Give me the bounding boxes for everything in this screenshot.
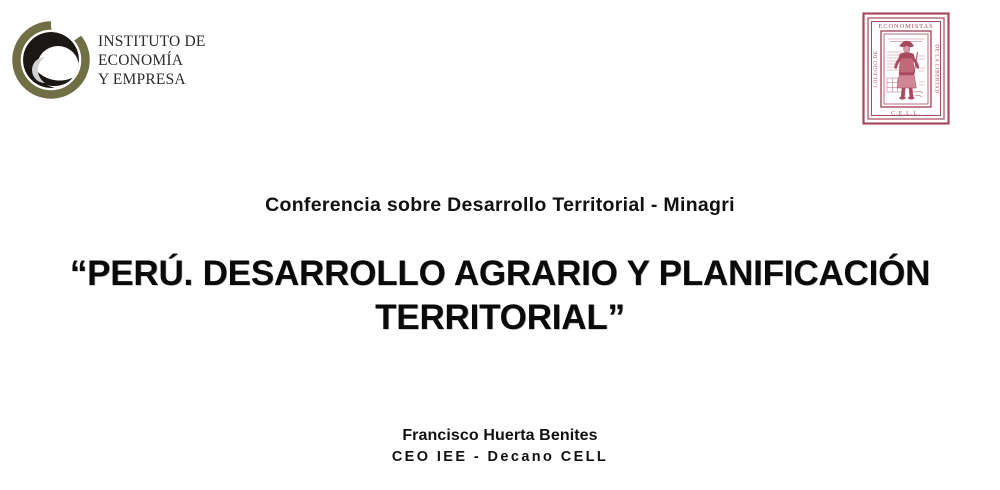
instituto-wordmark: INSTITUTO DE ECONOMÍA Y EMPRESA [98,32,206,89]
speaker-name: Francisco Huerta Benites [0,426,1000,446]
page-title: “PERÚ. DESARROLLO AGRARIO Y PLANIFICACIÓ… [30,252,970,340]
crest-top-text: ECONOMISTAS [879,23,934,30]
presentation-slide: INSTITUTO DE ECONOMÍA Y EMPRESA ECONOMIS… [0,0,1000,490]
instituto-de-economia-y-empresa-logo: INSTITUTO DE ECONOMÍA Y EMPRESA [12,16,262,104]
speaker-block: Francisco Huerta Benites CEO IEE - Decan… [0,426,1000,467]
wordmark-line-3: Y EMPRESA [98,70,206,89]
wordmark-line-2: ECONOMÍA [98,51,206,70]
conference-subject-line: Conferencia sobre Desarrollo Territorial… [0,194,1000,217]
circular-crescent-yin-yang-icon [12,21,90,99]
crest-right-text: DE LA LIBERTAD [934,44,940,93]
speaker-role: CEO IEE - Decano CELL [0,447,1000,467]
crest-left-text: COLEGIO DE [873,51,879,88]
title-line-2: TERRITORIAL” [30,296,970,340]
colegio-de-economistas-crest: ECONOMISTAS COLEGIO DE DE LA LIBERTAD C.… [862,12,950,125]
title-line-1: “PERÚ. DESARROLLO AGRARIO Y PLANIFICACIÓ… [30,252,970,296]
wordmark-line-1: INSTITUTO DE [98,32,206,51]
crest-bottom-text: C.E.L.L. [891,111,921,117]
